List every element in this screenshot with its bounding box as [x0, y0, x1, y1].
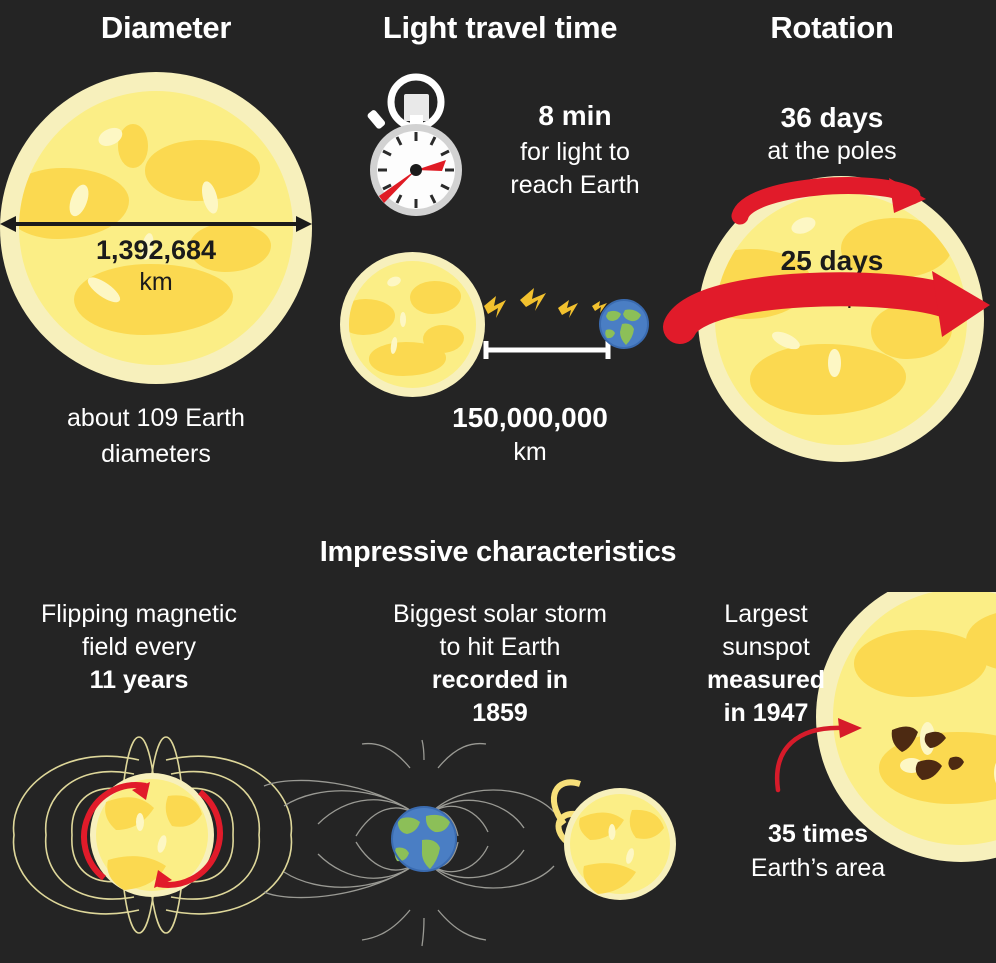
stopwatch-icon [354, 72, 479, 217]
impressive-characteristics-title: Impressive characteristics [0, 536, 996, 569]
storm-line4: 1859 [332, 699, 668, 728]
sunspot-icon [884, 718, 994, 798]
panel-sunspot: Largest sunspot measured in 1947 35 time… [668, 592, 996, 963]
rotation-poles-label: at the poles [668, 137, 996, 166]
sunspot-line4: in 1947 [668, 699, 864, 728]
storm-line2: to hit Earth [332, 633, 668, 662]
distance-unit: km [392, 438, 668, 467]
double-arrow-icon [0, 212, 312, 236]
diameter-value: 1,392,684 [0, 235, 312, 266]
infographic-root: Diameter 1,392,684 km [0, 0, 996, 963]
sun-graphic-distance [340, 252, 485, 397]
curved-arrow-icon [726, 168, 946, 238]
magnetic-line3: 11 years [0, 666, 278, 695]
sun-blob [349, 299, 395, 335]
sunspot-footnote-plain: Earth’s area [688, 854, 948, 883]
sun-blob [118, 124, 148, 168]
panel-rotation: Rotation 36 days at the poles 25 days at… [668, 0, 996, 500]
sunspot-line2: sunspot [668, 633, 864, 662]
light-time-value: 8 min [482, 100, 668, 132]
sunspot-line3: measured [668, 666, 864, 695]
sun-body [349, 261, 477, 389]
distance-value: 150,000,000 [392, 402, 668, 434]
diameter-caption-line1: about 109 Earth [0, 404, 312, 433]
sun-highlight [400, 312, 406, 327]
sun-blob [410, 281, 461, 314]
panel-light-travel: Light travel time [332, 0, 668, 500]
light-time-line3: reach Earth [482, 171, 668, 200]
curved-arrow-icon [660, 265, 996, 375]
sun-blob [423, 325, 464, 353]
storm-line3: recorded in [332, 666, 668, 695]
storm-line1: Biggest solar storm [332, 600, 668, 629]
rotation-title: Rotation [668, 10, 996, 46]
earth-globe-icon [598, 298, 650, 350]
diameter-caption-line2: diameters [0, 440, 312, 469]
earth-magnetosphere-icon [262, 740, 662, 963]
rotation-poles-value: 36 days [668, 102, 996, 134]
panel-solar-storm: Biggest solar storm to hit Earth recorde… [332, 592, 668, 963]
sunspot-footnote-bold: 35 times [688, 820, 948, 849]
diameter-title: Diameter [0, 10, 332, 46]
diameter-unit: km [0, 268, 312, 297]
light-travel-title: Light travel time [332, 10, 668, 46]
sun-highlight [386, 275, 402, 288]
measure-bar-icon [482, 338, 612, 362]
magnetic-line2: field every [0, 633, 278, 662]
light-time-line2: for light to [482, 138, 668, 167]
magnetic-line1: Flipping magnetic [0, 600, 278, 629]
sunspot-line1: Largest [668, 600, 864, 629]
panel-diameter: Diameter 1,392,684 km [0, 0, 332, 500]
